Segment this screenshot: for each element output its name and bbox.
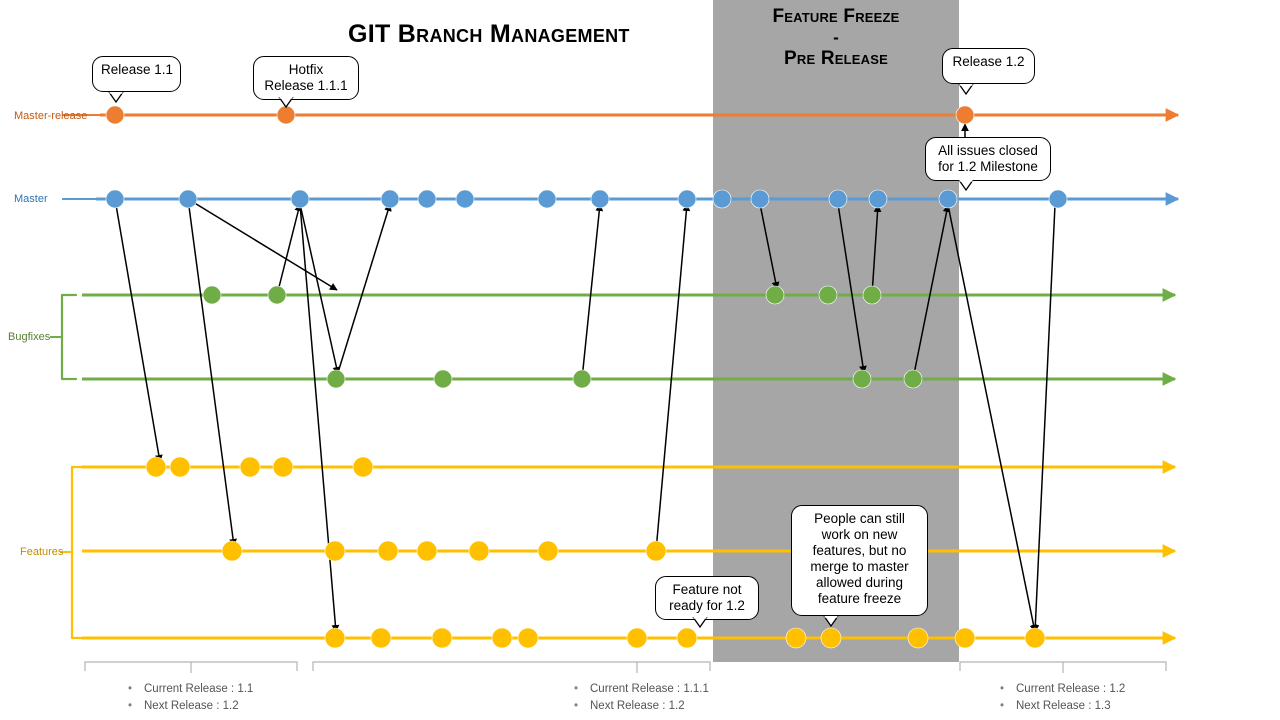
commit-node[interactable] <box>627 628 647 648</box>
arrow-branch-out <box>838 204 864 373</box>
commit-node[interactable] <box>222 541 242 561</box>
commit-node[interactable] <box>819 286 837 304</box>
timeline-bracket-section-2 <box>313 662 710 671</box>
arrow-branch-out <box>300 204 338 374</box>
callout-line: Release 1.1.1 <box>262 78 350 94</box>
commit-node[interactable] <box>381 190 399 208</box>
commit-node[interactable] <box>713 190 731 208</box>
commit-node[interactable] <box>939 190 957 208</box>
callout-tail <box>108 90 124 101</box>
commit-node[interactable] <box>469 541 489 561</box>
callout-line: People can still <box>800 511 919 527</box>
arrow-branch-out <box>188 199 337 290</box>
group-brackets-layer <box>50 295 86 638</box>
arrow-branch-out <box>760 204 777 289</box>
commit-node[interactable] <box>956 106 974 124</box>
commit-node[interactable] <box>179 190 197 208</box>
commit-node[interactable] <box>170 457 190 477</box>
commit-node[interactable] <box>371 628 391 648</box>
commit-node[interactable] <box>106 106 124 124</box>
commit-node[interactable] <box>1049 190 1067 208</box>
bullet-icon: • <box>1000 683 1016 695</box>
commit-node[interactable] <box>240 457 260 477</box>
commit-node[interactable] <box>492 628 512 648</box>
callout-line: merge to master <box>800 559 919 575</box>
commit-node[interactable] <box>146 457 166 477</box>
bullet-icon: • <box>128 683 144 695</box>
commit-node[interactable] <box>325 628 345 648</box>
commit-node[interactable] <box>203 286 221 304</box>
arrow-branch-out <box>300 204 336 632</box>
commit-node[interactable] <box>434 370 452 388</box>
arrow-merge-in <box>872 205 878 295</box>
commit-node[interactable] <box>538 541 558 561</box>
callout-feature-not-ready: Feature notready for 1.2 <box>655 576 759 620</box>
commit-node[interactable] <box>955 628 975 648</box>
commit-node[interactable] <box>829 190 847 208</box>
commit-node[interactable] <box>378 541 398 561</box>
commit-node[interactable] <box>327 370 345 388</box>
branch-label-master-release: Master-release <box>14 110 87 122</box>
callout-line: Feature not <box>664 582 750 598</box>
release-legend-item: •Current Release : 1.2 <box>1000 683 1125 695</box>
arrow-branch-out <box>115 199 160 462</box>
commit-node[interactable] <box>353 457 373 477</box>
callout-line: allowed during <box>800 575 919 591</box>
commit-node[interactable] <box>678 190 696 208</box>
callout-release-12: Release 1.2 <box>942 48 1035 84</box>
callout-line: Release 1.2 <box>951 54 1026 70</box>
release-legend-text: Current Release : 1.1.1 <box>590 683 709 695</box>
callout-issues-closed: All issues closedfor 1.2 Milestone <box>925 137 1051 181</box>
arrow-branch-out <box>948 205 1035 632</box>
release-legend-item: •Next Release : 1.3 <box>1000 700 1111 712</box>
commit-node[interactable] <box>432 628 452 648</box>
branch-label-features: Features <box>20 546 63 558</box>
commit-node[interactable] <box>291 190 309 208</box>
commit-node[interactable] <box>863 286 881 304</box>
commit-node[interactable] <box>268 286 286 304</box>
release-legend-text: Next Release : 1.3 <box>1016 700 1111 712</box>
arrow-branch-out <box>188 199 234 546</box>
release-legend-text: Next Release : 1.2 <box>144 700 239 712</box>
commit-node[interactable] <box>908 628 928 648</box>
branch-graph-svg <box>0 0 1280 720</box>
callout-tail <box>958 178 974 189</box>
callout-line: Release 1.1 <box>101 62 172 78</box>
commit-node[interactable] <box>646 541 666 561</box>
branch-label-bugfixes: Bugfixes <box>8 331 50 343</box>
arrow-merge-in <box>277 204 300 295</box>
timeline-sections-layer <box>85 662 1166 673</box>
commit-node[interactable] <box>418 190 436 208</box>
commit-node[interactable] <box>766 286 784 304</box>
commit-node[interactable] <box>325 541 345 561</box>
commit-node[interactable] <box>677 628 697 648</box>
callout-release-11: Release 1.1 <box>92 56 181 92</box>
bullet-icon: • <box>1000 700 1016 712</box>
callout-freeze-note: People can stillwork on newfeatures, but… <box>791 505 928 616</box>
callout-tail <box>692 615 708 626</box>
commit-node[interactable] <box>277 106 295 124</box>
commit-node[interactable] <box>417 541 437 561</box>
arrow-merge-in <box>582 204 600 379</box>
bullet-icon: • <box>128 700 144 712</box>
commit-node[interactable] <box>106 190 124 208</box>
callout-line: work on new <box>800 527 919 543</box>
callout-line: All issues closed <box>934 143 1042 159</box>
callout-line: Hotfix <box>262 62 350 78</box>
callout-line: ready for 1.2 <box>664 598 750 614</box>
commit-node[interactable] <box>456 190 474 208</box>
diagram-canvas: Feature Freeze - Pre Release GIT Branch … <box>0 0 1280 720</box>
release-legend-item: •Next Release : 1.2 <box>574 700 685 712</box>
commit-node[interactable] <box>821 628 841 648</box>
commit-node[interactable] <box>538 190 556 208</box>
callout-line: feature freeze <box>800 591 919 607</box>
branch-label-master: Master <box>14 193 48 205</box>
arrow-merge-in <box>913 205 948 379</box>
arrow-branch-out <box>1035 205 1055 632</box>
callout-tail <box>823 614 839 625</box>
commit-node[interactable] <box>786 628 806 648</box>
callout-line: for 1.2 Milestone <box>934 159 1042 175</box>
commit-node[interactable] <box>751 190 769 208</box>
bullet-icon: • <box>574 700 590 712</box>
commit-node[interactable] <box>573 370 591 388</box>
release-legend-item: •Next Release : 1.2 <box>128 700 239 712</box>
callout-hotfix-111: HotfixRelease 1.1.1 <box>253 56 359 100</box>
group-bracket-bugfixes <box>62 295 76 379</box>
release-legend-text: Next Release : 1.2 <box>590 700 685 712</box>
release-legend-text: Current Release : 1.2 <box>1016 683 1125 695</box>
commit-node[interactable] <box>869 190 887 208</box>
commit-node[interactable] <box>518 628 538 648</box>
release-legend-text: Current Release : 1.1 <box>144 683 253 695</box>
release-legend-item: •Current Release : 1.1.1 <box>574 683 709 695</box>
commit-node[interactable] <box>1025 628 1045 648</box>
callout-line: features, but no <box>800 543 919 559</box>
commit-node[interactable] <box>591 190 609 208</box>
callout-tail <box>278 95 294 106</box>
commit-node[interactable] <box>853 370 871 388</box>
commit-node[interactable] <box>904 370 922 388</box>
arrow-merge-in <box>336 204 390 379</box>
commit-node[interactable] <box>273 457 293 477</box>
bullet-icon: • <box>574 683 590 695</box>
callout-tail <box>958 82 974 93</box>
release-legend-item: •Current Release : 1.1 <box>128 683 253 695</box>
